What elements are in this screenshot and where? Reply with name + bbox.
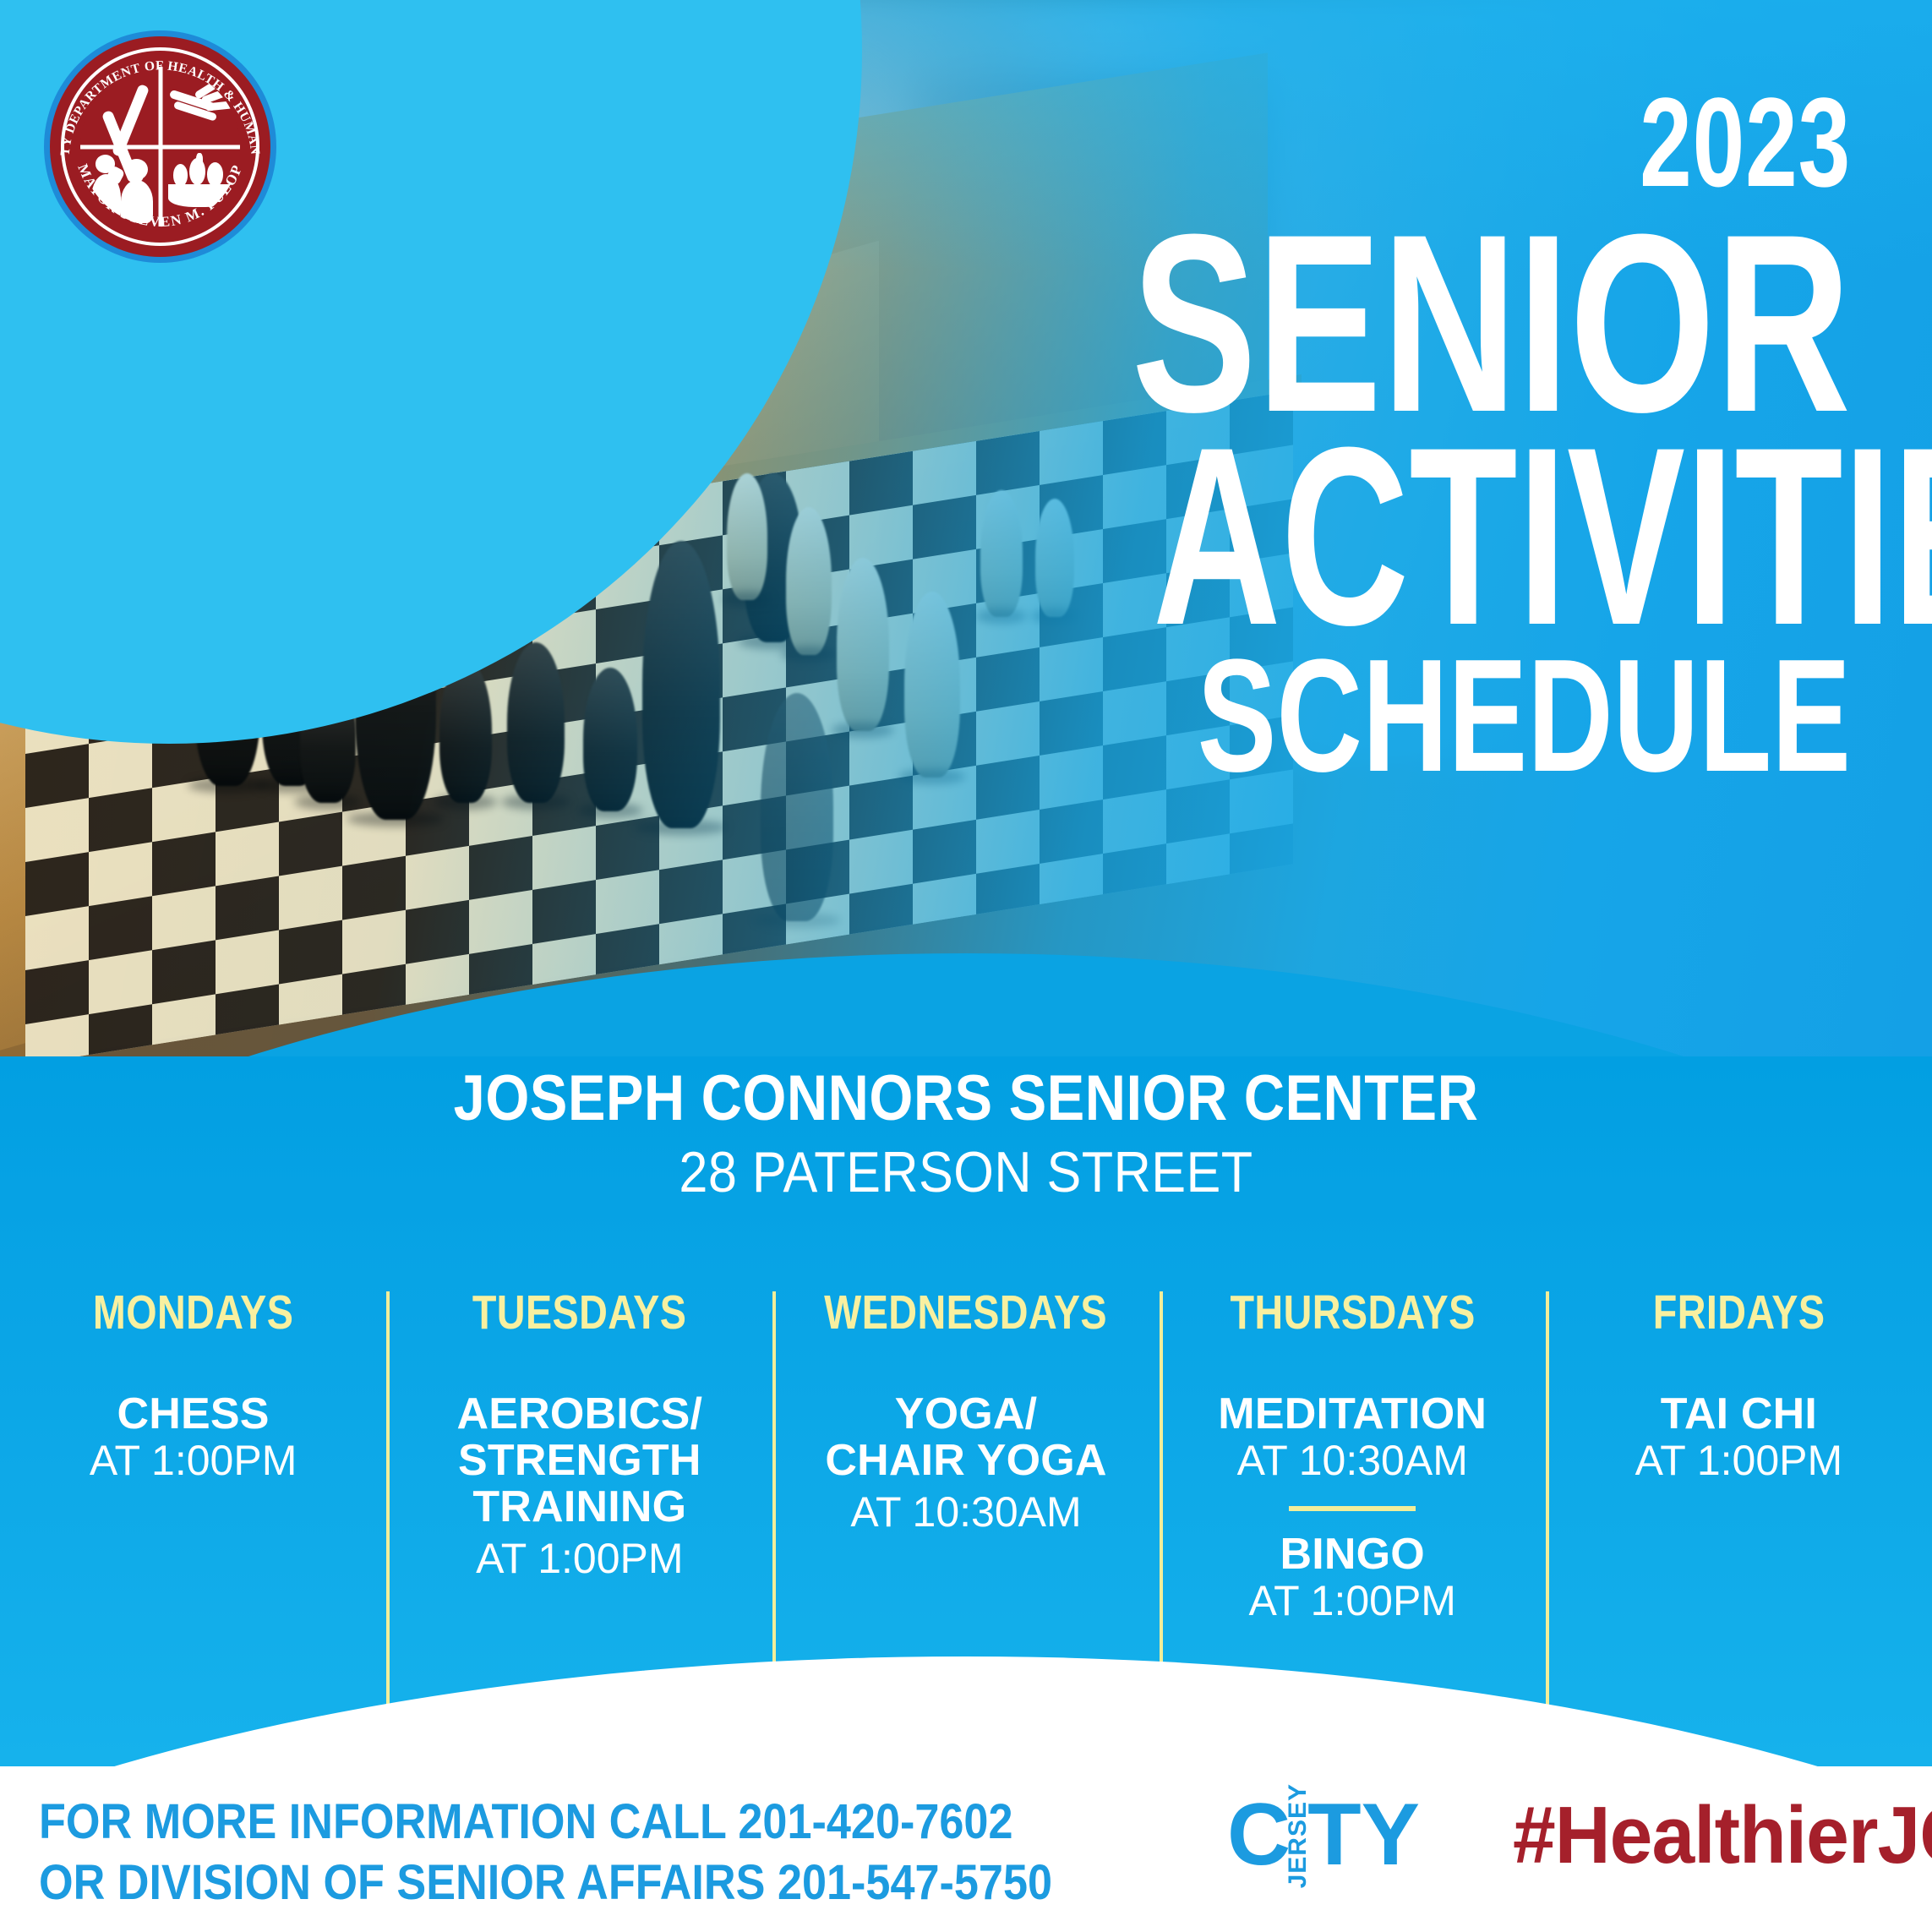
svg-text:JERSEY CITY DEPARTMENT OF HEAL: JERSEY CITY DEPARTMENT OF HEALTH & HUMAN… <box>44 30 262 156</box>
activity-time: AT 1:00PM <box>14 1438 373 1484</box>
day-header-thursdays: THURSDAYS <box>1205 1285 1500 1340</box>
day-header-wednesdays: WEDNESDAYS <box>819 1285 1114 1340</box>
activity-name: BINGO <box>1173 1531 1532 1578</box>
activity-name: YOGA/ CHAIR YOGA <box>786 1391 1145 1484</box>
footer-line-2: OR DIVISION OF SENIOR AFFAIRS 201-547-57… <box>39 1853 1058 1913</box>
schedule-column-thursday: THURSDAYS MEDITATION AT 10:30AM BINGO AT… <box>1160 1285 1546 1711</box>
hashtag-healthierjc: #HealthierJC <box>1513 1795 1932 1876</box>
activity-time: AT 10:30AM <box>1173 1438 1532 1484</box>
footer-contact-info: FOR MORE INFORMATION CALL 201-420-7602 O… <box>39 1792 1058 1913</box>
day-header-tuesdays: TUESDAYS <box>432 1285 727 1340</box>
logo-word-jersey: JERSEY <box>1285 1783 1311 1888</box>
department-seal-logo: JERSEY CITY DEPARTMENT OF HEALTH & HUMAN… <box>44 30 276 263</box>
activity-slot: CHESS AT 1:00PM <box>14 1391 373 1484</box>
schedule-column-monday: MONDAYS CHESS AT 1:00PM <box>0 1285 386 1711</box>
activity-time: AT 1:00PM <box>1173 1578 1532 1624</box>
activity-time: AT 10:30AM <box>786 1489 1145 1536</box>
title-line-activities: ACTIVITIES <box>1153 429 1851 642</box>
activity-name: CHESS <box>14 1391 373 1438</box>
jersey-city-logo: C JERSEY TY <box>1227 1797 1420 1875</box>
thursday-slot-divider <box>1289 1506 1416 1511</box>
footer-line-1: FOR MORE INFORMATION CALL 201-420-7602 <box>39 1792 1058 1853</box>
activity-slot: MEDITATION AT 10:30AM <box>1173 1391 1532 1484</box>
logo-letters-ty: TY <box>1307 1800 1420 1870</box>
activity-slot: YOGA/ CHAIR YOGA AT 10:30AM <box>786 1391 1145 1536</box>
poster-root: JERSEY CITY DEPARTMENT OF HEALTH & HUMAN… <box>0 0 1932 1932</box>
poster-title-block: 2023 SENIOR ACTIVITIES SCHEDULE <box>854 81 1851 787</box>
logo-letter-c: C <box>1227 1800 1291 1870</box>
activity-time: AT 1:00PM <box>1559 1438 1918 1484</box>
day-header-mondays: MONDAYS <box>46 1285 341 1340</box>
svg-text:MAYOR STEVEN M. FULOP: MAYOR STEVEN M. FULOP <box>74 161 245 230</box>
activity-time: AT 1:00PM <box>400 1536 759 1582</box>
seal-text-svg: JERSEY CITY DEPARTMENT OF HEALTH & HUMAN… <box>44 30 276 263</box>
venue-address: 28 PATERSON STREET <box>96 1139 1835 1205</box>
activity-slot: AEROBICS/ STRENGTH TRAINING AT 1:00PM <box>400 1391 759 1582</box>
activity-slot: BINGO AT 1:00PM <box>1173 1531 1532 1624</box>
venue-name: JOSEPH CONNORS SENIOR CENTER <box>116 1062 1816 1135</box>
activity-name: AEROBICS/ STRENGTH TRAINING <box>400 1391 759 1531</box>
day-header-fridays: FRIDAYS <box>1591 1285 1886 1340</box>
weekly-schedule-grid: MONDAYS CHESS AT 1:00PM TUESDAYS AEROBIC… <box>0 1285 1932 1711</box>
schedule-column-wednesday: WEDNESDAYS YOGA/ CHAIR YOGA AT 10:30AM <box>772 1285 1159 1711</box>
title-line-schedule: SCHEDULE <box>1113 646 1851 787</box>
schedule-column-tuesday: TUESDAYS AEROBICS/ STRENGTH TRAINING AT … <box>386 1285 772 1711</box>
activity-name: TAI CHI <box>1559 1391 1918 1438</box>
activity-slot: TAI CHI AT 1:00PM <box>1559 1391 1918 1484</box>
activity-name: MEDITATION <box>1173 1391 1532 1438</box>
schedule-column-friday: FRIDAYS TAI CHI AT 1:00PM <box>1546 1285 1932 1711</box>
